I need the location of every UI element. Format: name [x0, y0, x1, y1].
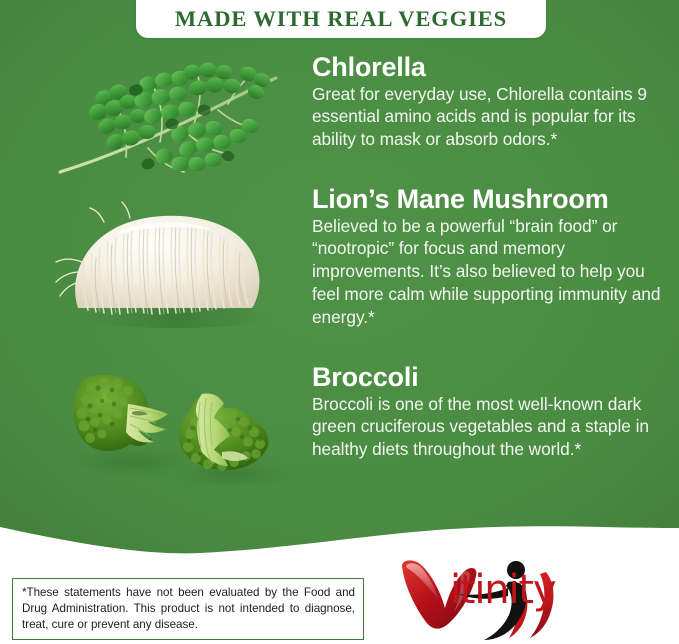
- ingredient-row-chlorella: Chlorella Great for everyday use, Chlore…: [0, 52, 679, 177]
- disclaimer-box: *These statements have not been evaluate…: [12, 578, 364, 640]
- ingredient-description: Broccoli is one of the most well-known d…: [312, 393, 672, 461]
- ingredient-description: Great for everyday use, Chlorella contai…: [312, 83, 672, 151]
- chlorella-leaf-sprig-photo: [52, 52, 300, 185]
- vitinity-logo: itinity: [396, 556, 636, 640]
- banner: MADE WITH REAL VEGGIES: [136, 0, 546, 38]
- ingredient-title: Broccoli: [312, 364, 672, 392]
- ingredient-title: Lion’s Mane Mushroom: [312, 186, 672, 214]
- ingredient-row-lions-mane: Lion’s Mane Mushroom Believed to be a po…: [0, 186, 679, 346]
- product-infographic: MADE WITH REAL VEGGIES: [0, 0, 679, 644]
- broccoli-copy: Broccoli Broccoli is one of the most wel…: [312, 364, 672, 461]
- ingredient-title: Chlorella: [312, 54, 672, 82]
- banner-title: MADE WITH REAL VEGGIES: [175, 6, 507, 32]
- lions-mane-copy: Lion’s Mane Mushroom Believed to be a po…: [312, 186, 672, 329]
- lions-mane-mushroom-photo: [44, 200, 294, 345]
- ingredient-row-broccoli: Broccoli Broccoli is one of the most wel…: [0, 362, 679, 502]
- ingredient-description: Believed to be a powerful “brain food” o…: [312, 215, 672, 329]
- logo-wordmark: itinity: [450, 570, 555, 610]
- chlorella-copy: Chlorella Great for everyday use, Chlore…: [312, 54, 672, 151]
- broccoli-florets-photo: [62, 366, 292, 497]
- disclaimer-text: *These statements have not been evaluate…: [22, 585, 355, 633]
